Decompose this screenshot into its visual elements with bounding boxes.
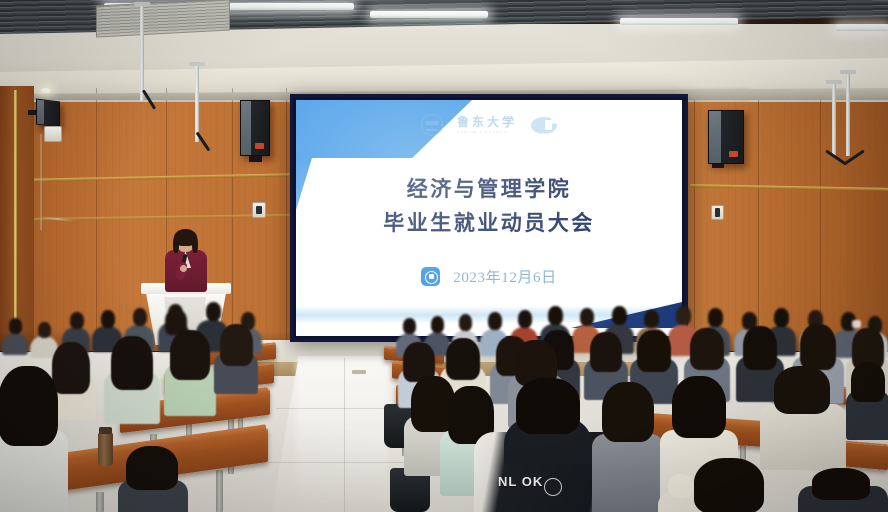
university-wordmark: 鲁东大学 Ludong University [457, 116, 517, 134]
person-torso [2, 333, 28, 355]
person-head [101, 310, 115, 328]
rod-ceiling-plate [840, 70, 856, 74]
slide-title: 经济与管理学院 毕业生就业动员大会 [296, 172, 682, 240]
presenter-hand [180, 265, 187, 272]
audience-member [798, 468, 888, 512]
person-head [612, 306, 627, 325]
audience-member [760, 366, 846, 466]
ceiling-projector-rod [832, 82, 836, 156]
speaker-brand-logo [255, 143, 264, 149]
wall-column [0, 86, 34, 351]
auditorium-photo: 鲁东大学 Ludong University 经济与管理学院 毕业生就业动员大会… [0, 0, 888, 512]
person-hair [800, 324, 836, 370]
audience-member [104, 336, 160, 420]
person-head [488, 312, 502, 330]
rod-ceiling-plate [826, 80, 842, 84]
speaker-brand-logo [729, 151, 738, 157]
column-trim [14, 90, 17, 348]
person-hair [851, 362, 885, 402]
person-head [774, 308, 789, 327]
speaker-grille [37, 100, 44, 125]
desk-leg [216, 470, 223, 512]
audience-member [592, 382, 664, 512]
person-head [676, 306, 691, 325]
ceiling-projector-rod [846, 72, 850, 156]
audience-member [118, 446, 188, 512]
secondary-brand-mark-icon [531, 117, 557, 134]
presenter [163, 232, 209, 290]
ceiling-light-fixture [836, 24, 888, 31]
face-mask [852, 320, 861, 328]
speaker-grille [241, 101, 251, 155]
person-head [206, 302, 221, 321]
audience-member [846, 362, 888, 436]
slide-title-line-1: 经济与管理学院 [296, 172, 682, 206]
university-crest-icon [421, 114, 443, 136]
desk-leg [96, 492, 104, 512]
person-hair [0, 366, 58, 446]
control-box-panel [256, 206, 262, 215]
wall-speaker-right [708, 110, 744, 164]
ceiling-light-fixture [370, 11, 488, 18]
person-torso [592, 434, 664, 512]
person-head [644, 310, 659, 328]
person-head [403, 318, 416, 334]
person-hair [170, 330, 210, 380]
speaker-grille [709, 111, 721, 163]
person-head [9, 318, 22, 334]
university-name-en: Ludong University [457, 129, 517, 134]
downlight-icon [41, 88, 51, 93]
person-head [70, 312, 84, 329]
person-hair [446, 338, 480, 380]
presentation-slide: 鲁东大学 Ludong University 经济与管理学院 毕业生就业动员大会… [296, 100, 682, 336]
wall-control-box-left [252, 202, 266, 218]
person-head [133, 308, 147, 326]
person-hair [690, 328, 724, 370]
person-hair [812, 468, 870, 500]
slide-title-line-2: 毕业生就业动员大会 [296, 206, 682, 240]
slide-logo-row: 鲁东大学 Ludong University [296, 114, 682, 136]
floor-reflection [296, 360, 388, 510]
person-hair [126, 446, 178, 490]
person-hair [637, 330, 671, 372]
person-hair [516, 378, 580, 434]
presenter-hair [192, 236, 198, 253]
camera-date-icon [421, 267, 440, 286]
person-head [580, 308, 594, 326]
audience-member [2, 318, 28, 352]
ceiling-projector-rod [140, 3, 144, 101]
presenter-hair [173, 236, 179, 253]
tile-seam [268, 462, 426, 463]
audience-member [214, 324, 258, 390]
slide-date-row: 2023年12月6日 [296, 266, 682, 287]
person-head [38, 322, 51, 338]
jacket-emblem-icon [544, 478, 562, 496]
person-head [548, 306, 563, 325]
bottle-cap [99, 427, 112, 434]
ceiling-projector-rod [195, 64, 199, 142]
jacket-lettering: NL OK [498, 474, 543, 489]
person-hair [111, 336, 153, 390]
control-box-panel [715, 208, 721, 216]
person-hair [774, 366, 830, 414]
person-hair [694, 458, 764, 512]
wall-speaker-left [240, 100, 270, 156]
thermos-bottle [98, 432, 113, 466]
rod-ceiling-plate [134, 2, 150, 6]
tile-seam [344, 358, 345, 512]
audience-member [164, 330, 216, 412]
person-hair [220, 324, 253, 366]
ceiling-light-fixture [620, 18, 738, 25]
person-hair [590, 332, 622, 372]
slide-date-text: 2023年12月6日 [453, 266, 557, 287]
audience-member [684, 458, 774, 512]
person-hair [672, 376, 726, 438]
projection-screen: 鲁东大学 Ludong University 经济与管理学院 毕业生就业动员大会… [290, 94, 688, 342]
panel-seam [232, 88, 233, 350]
audience-member [0, 366, 68, 512]
person-head [708, 308, 723, 327]
person-head [459, 314, 472, 331]
rod-ceiling-plate [189, 62, 205, 66]
person-head [518, 310, 532, 328]
panel-seam [286, 88, 287, 350]
person-hair [743, 326, 777, 370]
university-name-cn: 鲁东大学 [457, 116, 517, 129]
wall-speaker-far-left [36, 99, 60, 128]
wall-camera-left [44, 126, 62, 142]
person-head [431, 316, 444, 333]
person-hair [602, 382, 654, 442]
wall-control-box-right [711, 205, 724, 220]
